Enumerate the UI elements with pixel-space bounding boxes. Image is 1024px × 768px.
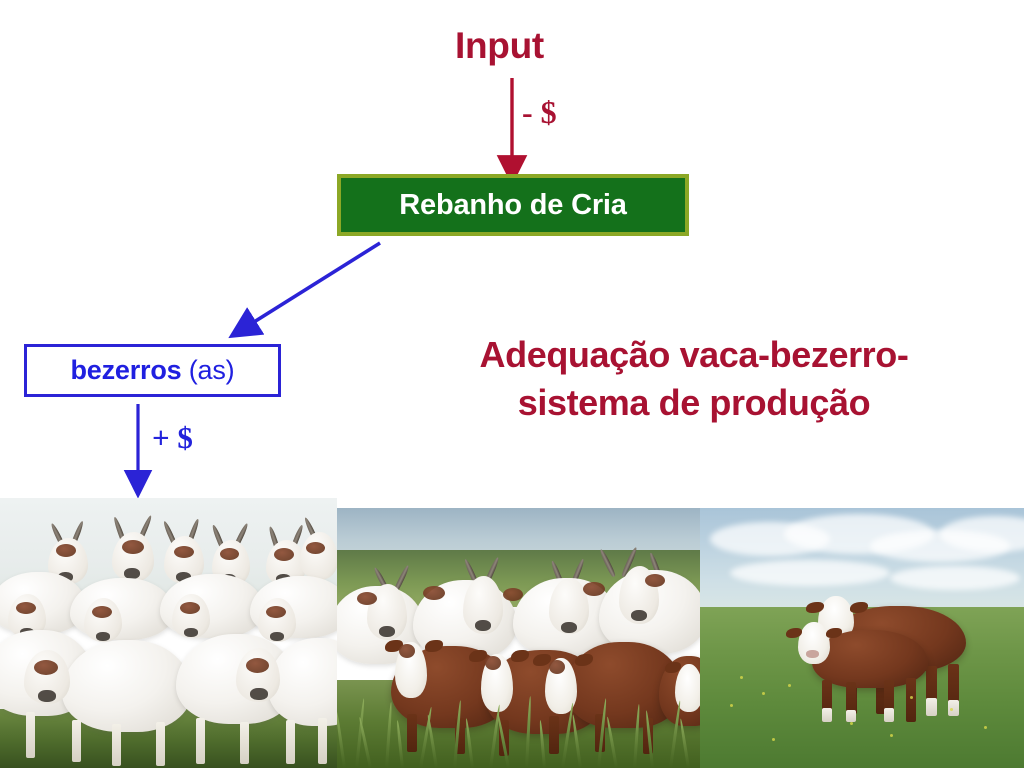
- slide-canvas: Input - $ Rebanho de Cria bezerros (as): [0, 0, 1024, 768]
- photo-nelore-herd: [0, 498, 337, 768]
- photo-hereford-cow-and-calf: [700, 508, 1024, 768]
- calves-box[interactable]: bezerros (as): [24, 344, 281, 397]
- headline-line-2: sistema de produção: [414, 379, 974, 427]
- herd-box-label: Rebanho de Cria: [399, 189, 626, 222]
- headline-line-1: Adequação vaca-bezerro-: [414, 331, 974, 379]
- calves-box-label-bold: bezerros: [71, 355, 182, 385]
- revenue-annotation: + $: [152, 420, 193, 456]
- herd-to-calves-arrow: [230, 235, 395, 345]
- herd-box[interactable]: Rebanho de Cria: [337, 174, 689, 236]
- calves-box-label-regular: (as): [181, 355, 234, 385]
- calves-box-label: bezerros (as): [71, 355, 235, 386]
- photo-strip: [0, 495, 1024, 768]
- cost-annotation: - $: [522, 94, 557, 131]
- headline: Adequação vaca-bezerro- sistema de produ…: [414, 331, 974, 426]
- input-label: Input: [455, 25, 544, 67]
- photo-nelore-and-crossbred: [337, 508, 700, 768]
